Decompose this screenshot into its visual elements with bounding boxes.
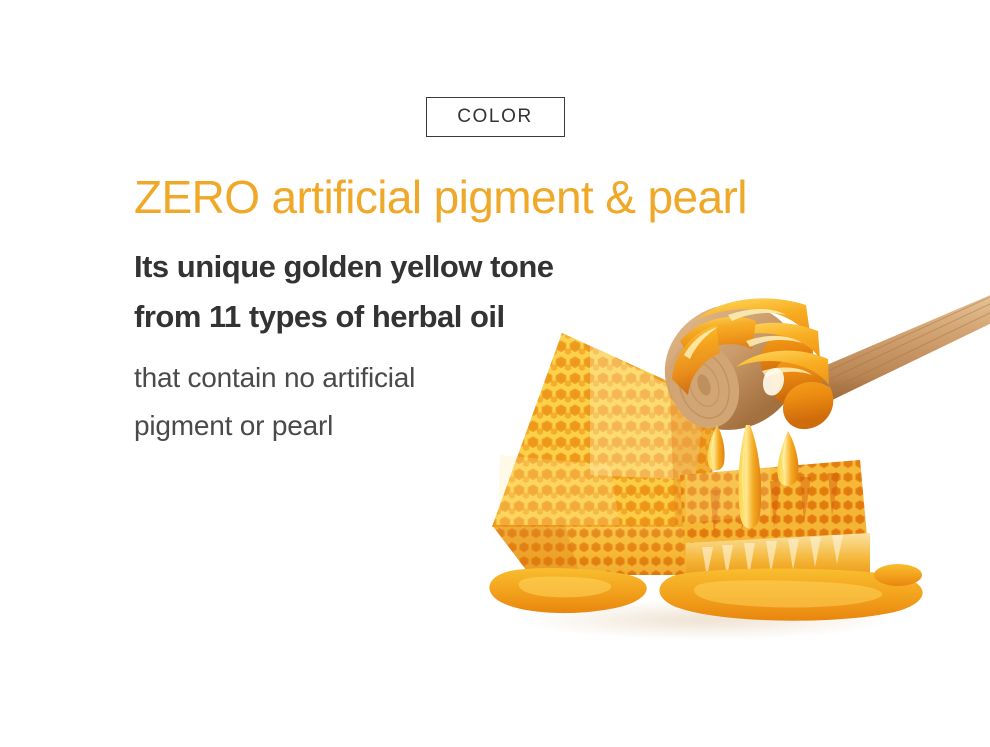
badge-container: COLOR bbox=[0, 97, 990, 137]
color-badge: COLOR bbox=[426, 97, 565, 137]
body-light-line-2: pigment or pearl bbox=[134, 402, 894, 450]
body-strong-line-1: Its unique golden yellow tone bbox=[134, 242, 894, 292]
text-content-block: ZERO artificial pigment & pearl Its uniq… bbox=[134, 172, 894, 450]
body-strong-line-2: from 11 types of herbal oil bbox=[134, 292, 894, 342]
body-light-line-1: that contain no artificial bbox=[134, 354, 894, 402]
honey-pools bbox=[489, 564, 922, 621]
honeycomb-block-right bbox=[680, 460, 870, 587]
body-copy: Its unique golden yellow tone from 11 ty… bbox=[134, 242, 894, 451]
page-headline: ZERO artificial pigment & pearl bbox=[134, 172, 894, 224]
